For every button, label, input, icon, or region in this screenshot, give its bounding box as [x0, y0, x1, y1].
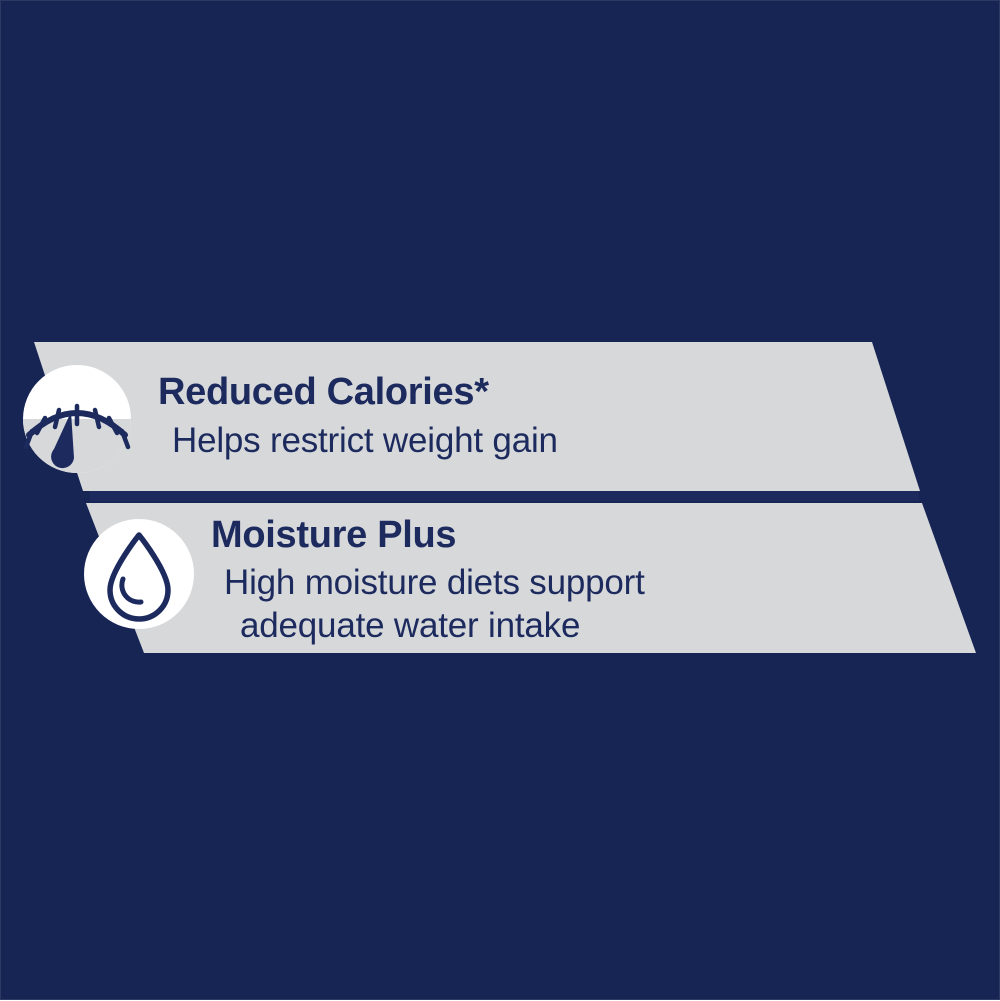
water-drop-icon	[84, 519, 194, 629]
feature-panel-2	[86, 503, 976, 653]
banner-shapes	[1, 1, 1000, 1001]
feature-callout-graphic: Reduced Calories* Helps restrict weight …	[0, 0, 1000, 1000]
panel-divider	[90, 491, 919, 501]
gauge-icon	[23, 365, 131, 473]
feature-panel-1	[34, 342, 920, 491]
